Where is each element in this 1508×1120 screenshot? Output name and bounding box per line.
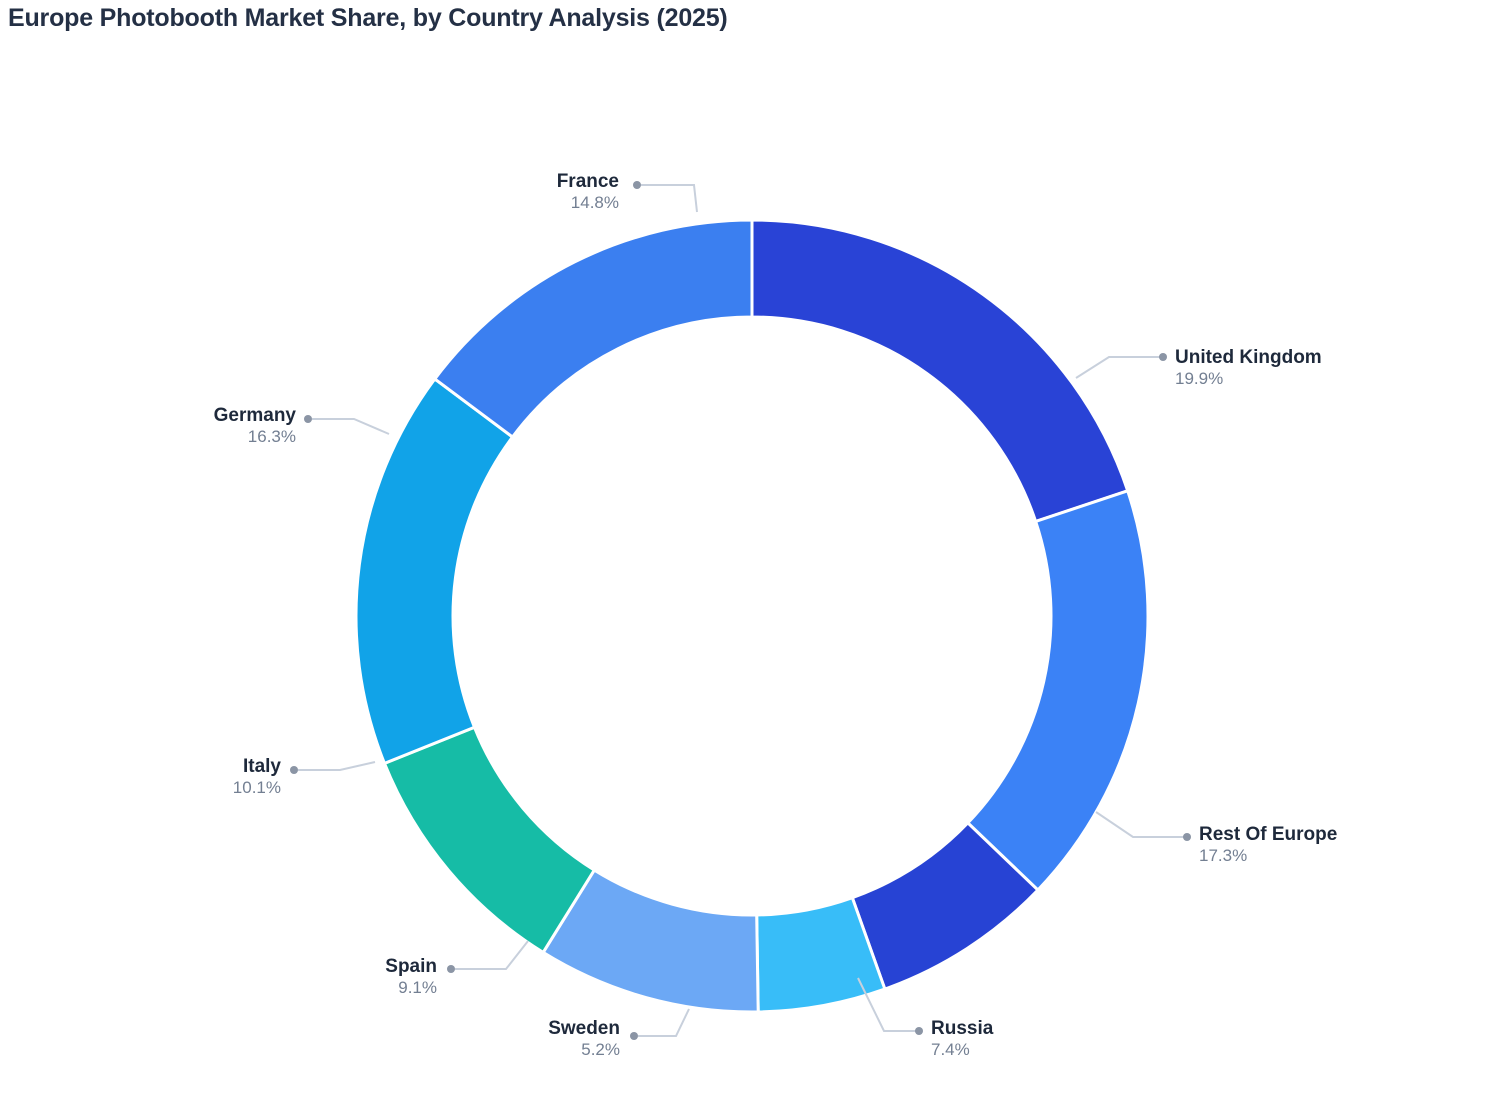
leader-line [312, 419, 389, 434]
leader-line [1076, 357, 1160, 378]
slice-label: Russia7.4% [931, 1019, 993, 1060]
donut-slice[interactable] [752, 220, 1128, 521]
leader-dot-icon [915, 1027, 923, 1035]
donut-chart: Europe Photobooth Market Share, by Count… [0, 0, 1508, 1120]
slice-label-value: 14.8% [0, 192, 619, 213]
leader-line [641, 185, 697, 212]
leader-line [298, 762, 375, 770]
donut-slice[interactable] [435, 220, 752, 437]
leader-dot-icon [1183, 833, 1191, 841]
slice-label-name: Rest Of Europe [1199, 825, 1337, 845]
slice-label-name: Sweden [0, 1019, 620, 1039]
slice-label-name: Germany [0, 406, 296, 426]
donut-chart-canvas [0, 0, 1508, 1120]
leader-line [455, 941, 528, 969]
donut-slices [356, 220, 1148, 1012]
leader-dot-icon [1159, 353, 1167, 361]
slice-label-name: Spain [0, 957, 437, 977]
leader-dot-icon [304, 415, 312, 423]
slice-label-name: France [0, 172, 619, 192]
slice-label: Spain9.1% [0, 957, 437, 998]
slice-label-value: 19.9% [1175, 368, 1322, 389]
slice-label: Germany16.3% [0, 406, 296, 447]
slice-label-value: 10.1% [0, 777, 281, 798]
slice-label-name: Italy [0, 757, 281, 777]
leader-dot-icon [633, 181, 641, 189]
slice-label: France14.8% [0, 172, 619, 213]
slice-label-value: 17.3% [1199, 845, 1337, 866]
slice-label: Sweden5.2% [0, 1019, 620, 1060]
donut-slice[interactable] [356, 379, 512, 763]
slice-label-name: United Kingdom [1175, 348, 1322, 368]
slice-label-value: 5.2% [0, 1039, 620, 1060]
leader-dot-icon [630, 1032, 638, 1040]
leader-line [1096, 812, 1184, 837]
slice-label: United Kingdom19.9% [1175, 348, 1322, 389]
slice-label: Rest Of Europe17.3% [1199, 825, 1337, 866]
leader-dot-icon [290, 766, 298, 774]
slice-label-value: 7.4% [931, 1039, 993, 1060]
slice-label: Italy10.1% [0, 757, 281, 798]
donut-slice[interactable] [968, 491, 1148, 890]
leader-line [638, 1009, 689, 1036]
slice-label-value: 9.1% [0, 977, 437, 998]
slice-label-name: Russia [931, 1019, 993, 1039]
leader-dot-icon [447, 965, 455, 973]
slice-label-value: 16.3% [0, 426, 296, 447]
donut-slice[interactable] [384, 727, 594, 952]
